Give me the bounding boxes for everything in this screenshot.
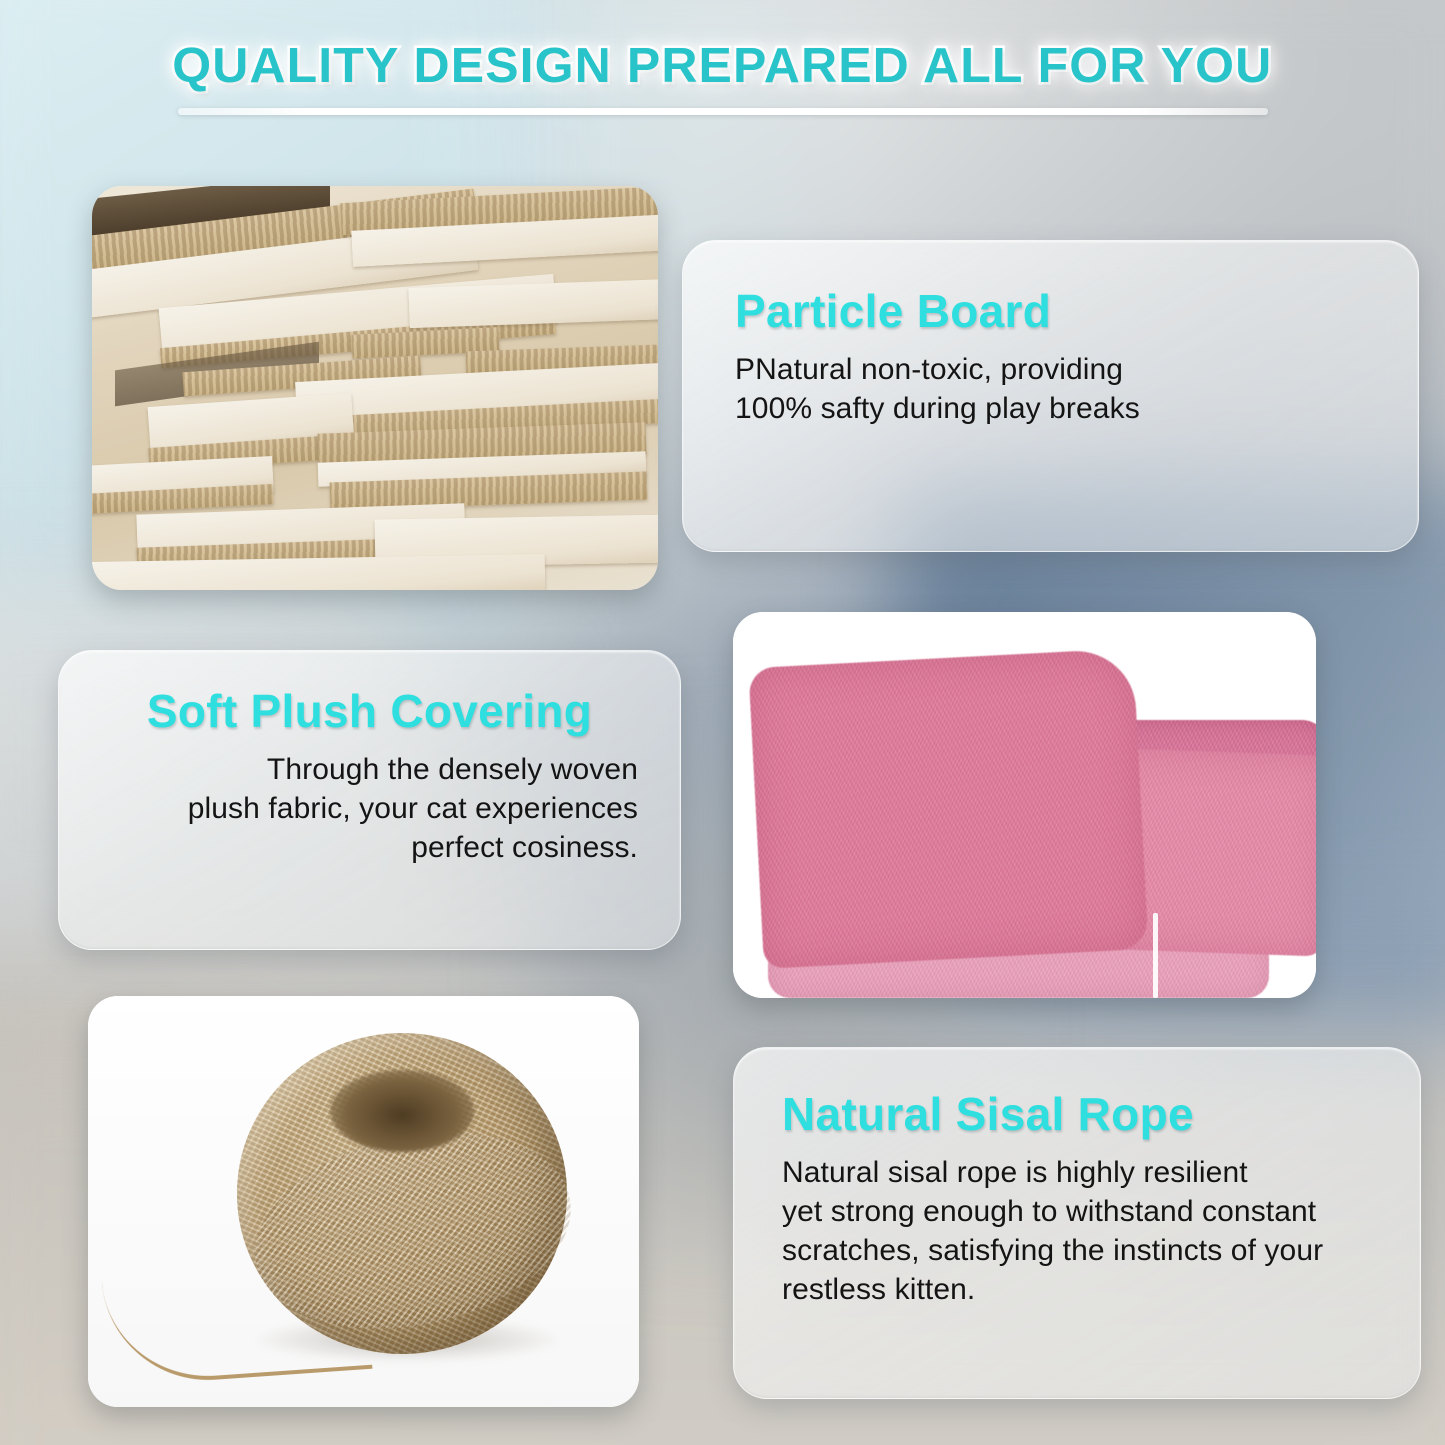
feature-body-line: 100% safty during play breaks <box>735 392 1140 425</box>
headline-text: QUALITY DESIGN PREPARED ALL FOR YOU <box>172 38 1272 94</box>
feature-title-particle-board: Particle Board <box>735 287 1366 336</box>
particle-board-image-content <box>92 186 658 590</box>
feature-body-line: restless kitten. <box>782 1273 975 1306</box>
feature-body-line: Natural sisal rope is highly resilient <box>782 1156 1248 1189</box>
headline-underline <box>178 108 1268 115</box>
particle-board-photo <box>92 186 658 590</box>
sisal-rope-photo <box>88 996 639 1407</box>
plush-seam-line <box>1153 913 1158 998</box>
rope-ball-center-hollow <box>330 1070 473 1152</box>
feature-title-soft-plush-covering: Soft Plush Covering <box>101 687 638 736</box>
feature-body-line: scratches, satisfying the instincts of y… <box>782 1234 1323 1267</box>
feature-title-natural-sisal-rope: Natural Sisal Rope <box>782 1090 1372 1139</box>
plush-fur-main-panel <box>749 648 1149 969</box>
feature-body-line: Through the densely woven <box>267 753 638 786</box>
feature-card-particle-board: Particle Board PNatural non-toxic, provi… <box>682 240 1419 552</box>
feature-body-particle-board: PNatural non-toxic, providing 100% safty… <box>735 350 1366 428</box>
feature-body-line: yet strong enough to withstand constant <box>782 1195 1316 1228</box>
feature-body-soft-plush-covering: Through the densely woven plush fabric, … <box>101 750 638 867</box>
feature-card-soft-plush-covering: Soft Plush Covering Through the densely … <box>58 650 681 950</box>
sisal-rope-image-content <box>88 996 639 1407</box>
feature-body-line: plush fabric, your cat experiences <box>188 792 638 825</box>
feature-body-line: perfect cosiness. <box>411 831 638 864</box>
feature-card-natural-sisal-rope: Natural Sisal Rope Natural sisal rope is… <box>733 1047 1421 1399</box>
pink-plush-image-content <box>733 612 1316 998</box>
pink-plush-photo <box>733 612 1316 998</box>
page-headline: QUALITY DESIGN PREPARED ALL FOR YOU <box>0 38 1445 115</box>
feature-body-natural-sisal-rope: Natural sisal rope is highly resilient y… <box>782 1153 1372 1309</box>
feature-body-line: PNatural non-toxic, providing <box>735 353 1123 386</box>
